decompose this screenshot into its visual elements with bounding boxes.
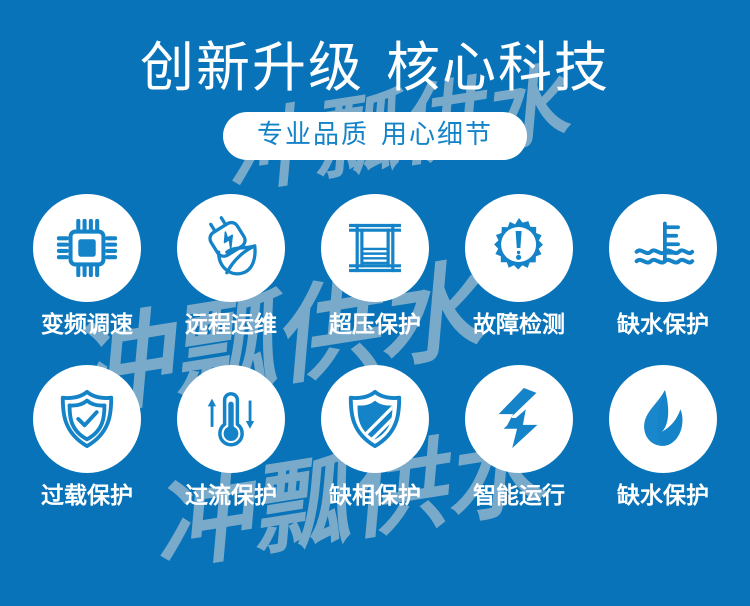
feature-row: 过载保护 <box>0 365 750 510</box>
icon-circle <box>609 194 717 302</box>
header: 创新升级核心科技 专业品质用心细节 <box>0 0 750 160</box>
feature-item-chaoyabaohu[interactable]: 超压保护 <box>314 194 436 339</box>
feature-label: 过载保护 <box>41 482 133 510</box>
feature-label: 过流保护 <box>185 482 277 510</box>
icon-circle <box>33 194 141 302</box>
feature-item-quexiangbaohu[interactable]: 缺相保护 <box>314 365 436 510</box>
icon-circle <box>177 194 285 302</box>
page-title: 创新升级核心科技 <box>0 38 750 98</box>
water-drop-icon <box>634 388 692 450</box>
feature-label: 智能运行 <box>473 482 565 510</box>
feature-row: 变频调速 <box>0 194 750 339</box>
water-level-gauge-icon <box>631 218 695 278</box>
shield-check-icon <box>56 388 118 450</box>
icon-circle <box>465 365 573 473</box>
shield-striped-icon <box>344 388 406 450</box>
icon-circle <box>177 365 285 473</box>
subtitle-badge: 专业品质用心细节 <box>223 112 527 160</box>
headline-part-2: 核心科技 <box>386 38 610 98</box>
feature-label: 缺相保护 <box>329 482 421 510</box>
badge-wrapper: 专业品质用心细节 <box>0 112 750 160</box>
feature-item-queshuibaohu-2[interactable]: 缺水保护 <box>602 365 724 510</box>
plug-leaf-icon <box>198 215 264 281</box>
feature-item-queshuibaohu-1[interactable]: 缺水保护 <box>602 194 724 339</box>
feature-grid: 变频调速 <box>0 194 750 509</box>
headline-part-1: 创新升级 <box>140 38 364 98</box>
badge-part-1: 专业品质 <box>257 119 369 149</box>
chip-icon <box>56 217 118 279</box>
feature-label: 缺水保护 <box>617 311 709 339</box>
feature-label: 缺水保护 <box>617 482 709 510</box>
lightning-bolt-icon <box>491 388 547 450</box>
badge-part-2: 用心细节 <box>381 119 493 149</box>
feature-label: 故障检测 <box>473 311 565 339</box>
pressure-tank-icon <box>345 218 405 278</box>
feature-item-yuanchengyunwei[interactable]: 远程运维 <box>170 194 292 339</box>
feature-label: 变频调速 <box>41 311 133 339</box>
icon-circle <box>33 365 141 473</box>
icon-circle <box>321 365 429 473</box>
feature-item-guzhangjiance[interactable]: 故障检测 <box>458 194 580 339</box>
promo-banner: 冲瓢供水 冲瓢供水 冲瓢供水 创新升级核心科技 专业品质用心细节 <box>0 0 750 606</box>
feature-item-zhinengyunxing[interactable]: 智能运行 <box>458 365 580 510</box>
icon-circle <box>321 194 429 302</box>
feature-item-guoliubaohu[interactable]: 过流保护 <box>170 365 292 510</box>
icon-circle <box>609 365 717 473</box>
feature-label: 远程运维 <box>185 311 277 339</box>
thermometer-arrows-icon <box>200 388 262 450</box>
feature-label: 超压保护 <box>329 311 421 339</box>
gear-alert-icon <box>487 216 551 280</box>
icon-circle <box>465 194 573 302</box>
feature-item-bianpintiaosu[interactable]: 变频调速 <box>26 194 148 339</box>
feature-item-guozaibaohu[interactable]: 过载保护 <box>26 365 148 510</box>
